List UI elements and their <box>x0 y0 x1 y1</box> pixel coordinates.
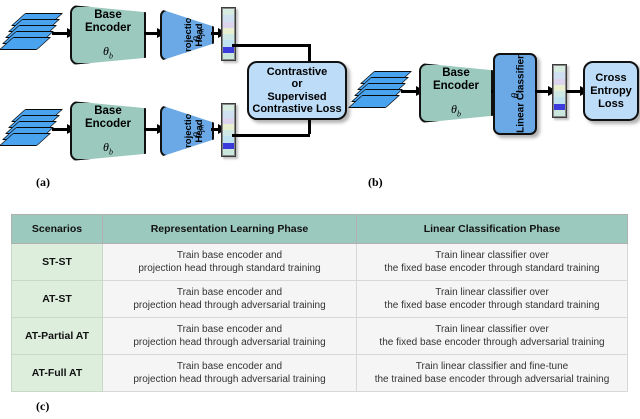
connector-a2-horizontal <box>232 134 310 137</box>
base-encoder-b-param-sub: b <box>457 110 461 119</box>
cell-representation-1: Train base encoder and projection head t… <box>103 281 357 318</box>
arrow-classifier-to-vector-b <box>535 90 549 93</box>
projection-head-a2-param-sub: ph <box>197 125 206 133</box>
contrastive-loss-line1: Contrastive <box>267 66 328 78</box>
table-row: ST-ST Train base encoder and projection … <box>12 244 628 281</box>
cell-classification-2: Train linear classifier over the fixed b… <box>357 318 628 355</box>
feature-vector-segment <box>223 53 234 59</box>
cell-representation-3: Train base encoder and projection head t… <box>103 355 357 392</box>
cell-representation-0-line2: projection head through standard trainin… <box>107 262 352 275</box>
cell-representation-0-line1: Train base encoder and <box>107 249 352 262</box>
base-encoder-a2-line2: Encoder <box>85 118 131 130</box>
table-row: AT-Full AT Train base encoder and projec… <box>12 355 628 392</box>
base-encoder-a1: Base Encoder θb <box>70 5 146 65</box>
cell-scenario-1: AT-ST <box>12 281 103 318</box>
arrow-phead-to-vector-a2 <box>211 128 219 131</box>
base-encoder-a1-param-sub: b <box>109 52 113 61</box>
base-encoder-b-line1: Base <box>442 67 470 79</box>
cell-representation-1-line1: Train base encoder and <box>107 286 352 299</box>
cell-classification-3-line2: the trained base encoder through adversa… <box>361 373 623 386</box>
contrastive-loss-line2: or <box>292 78 303 90</box>
feature-vector-a1 <box>221 7 236 61</box>
feature-vector-a2 <box>221 103 236 157</box>
cell-representation-2-line2: projection head through adversarial trai… <box>107 336 352 349</box>
scenarios-table: Scenarios Representation Learning Phase … <box>11 214 628 392</box>
cell-scenario-2: AT-Partial AT <box>12 318 103 355</box>
cell-classification-3-line1: Train linear classifier and fine-tune <box>361 360 623 373</box>
column-header-linear-classification: Linear Classification Phase <box>357 215 628 244</box>
cell-classification-0-line2: the fixed base encoder through standard … <box>361 262 623 275</box>
arrow-input-to-encoder-a1 <box>52 32 68 35</box>
arrow-input-to-encoder-b <box>401 90 417 93</box>
cross-entropy-line1: Cross <box>595 72 626 84</box>
projection-head-a1-param-sub: ph <box>197 29 206 37</box>
arrow-a1-into-loss <box>308 44 311 62</box>
cell-representation-0: Train base encoder and projection head t… <box>103 244 357 281</box>
base-encoder-a2-param-sub: b <box>109 148 113 157</box>
panel-c-label: (c) <box>36 399 49 414</box>
base-encoder-a1-line2: Encoder <box>85 22 131 34</box>
panel-a-label: (a) <box>36 175 50 190</box>
cell-representation-3-line1: Train base encoder and <box>107 360 352 373</box>
column-header-representation-learning: Representation Learning Phase <box>103 215 357 244</box>
linear-classifier-param-sub: c <box>514 90 523 93</box>
projection-head-a1: Projection Head θph <box>160 9 214 61</box>
base-encoder-b-line2: Encoder <box>433 80 479 92</box>
image-stack-icon-a2 <box>6 108 52 146</box>
base-encoder-a2-line1: Base <box>94 105 122 117</box>
base-encoder-a1-line1: Base <box>94 9 122 21</box>
arrow-vector-to-loss-b <box>566 90 581 93</box>
arrow-input-to-encoder-a2 <box>52 128 68 131</box>
projection-head-a2-param: θ <box>191 132 203 137</box>
base-encoder-a2: Base Encoder θb <box>70 101 146 161</box>
projection-head-a2: Projection Head θph <box>160 105 214 157</box>
feature-vector-segment <box>554 110 565 116</box>
contrastive-loss-line4: Contrastive Loss <box>252 103 341 115</box>
cell-scenario-0: ST-ST <box>12 244 103 281</box>
arrow-phead-to-vector-a1 <box>211 32 219 35</box>
cross-entropy-line3: Loss <box>598 98 624 110</box>
connector-a1-horizontal <box>232 44 310 47</box>
arrow-encoder-to-phead-a1 <box>144 32 158 35</box>
feature-vector-b <box>552 64 567 118</box>
cell-classification-3: Train linear classifier and fine-tune th… <box>357 355 628 392</box>
image-stack-icon-b <box>355 70 401 108</box>
table-row: AT-ST Train base encoder and projection … <box>12 281 628 318</box>
cell-classification-1: Train linear classifier over the fixed b… <box>357 281 628 318</box>
panel-b-label: (b) <box>368 175 383 190</box>
cell-representation-2-line1: Train base encoder and <box>107 323 352 336</box>
linear-classifier-param: θ <box>509 93 521 98</box>
cross-entropy-line2: Entropy <box>590 85 632 97</box>
cell-classification-1-line2: the fixed base encoder through standard … <box>361 299 623 312</box>
cell-classification-2-line2: the fixed base encoder through adversari… <box>361 336 623 349</box>
cell-classification-0-line1: Train linear classifier over <box>361 249 623 262</box>
table-row: AT-Partial AT Train base encoder and pro… <box>12 318 628 355</box>
arrow-encoder-to-phead-a2 <box>144 128 158 131</box>
linear-classifier-b: Linear Classifier θc <box>493 53 537 135</box>
cell-representation-1-line2: projection head through adversarial trai… <box>107 299 352 312</box>
image-stack-icon-a1 <box>6 12 52 50</box>
cell-representation-3-line2: projection head through adversarial trai… <box>107 373 352 386</box>
contrastive-loss-box: Contrastive or Supervised Contrastive Lo… <box>247 61 347 120</box>
cell-classification-1-line1: Train linear classifier over <box>361 286 623 299</box>
column-header-scenarios: Scenarios <box>12 215 103 244</box>
contrastive-loss-line3: Supervised <box>267 91 326 103</box>
base-encoder-b: Base Encoder θb <box>419 63 493 123</box>
projection-head-a1-param: θ <box>191 36 203 41</box>
cell-representation-2: Train base encoder and projection head t… <box>103 318 357 355</box>
feature-vector-segment <box>223 149 234 155</box>
table-header-row: Scenarios Representation Learning Phase … <box>12 215 628 244</box>
cross-entropy-loss-box: Cross Entropy Loss <box>583 61 639 121</box>
cell-classification-2-line1: Train linear classifier over <box>361 323 623 336</box>
cell-scenario-3: AT-Full AT <box>12 355 103 392</box>
cell-classification-0: Train linear classifier over the fixed b… <box>357 244 628 281</box>
